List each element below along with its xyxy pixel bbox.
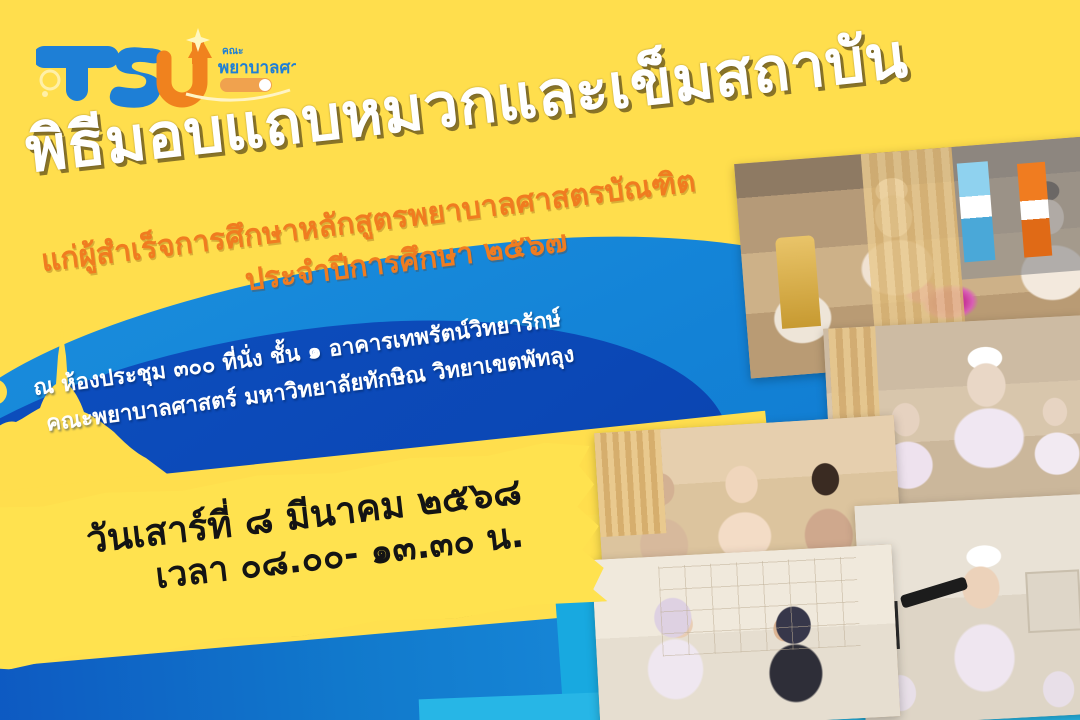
- poster-canvas: คณะ พยาบาลศาสตร์ พิธีมอบแถบหมวกและเข็มสถ…: [0, 0, 1080, 720]
- svg-text:พยาบาลศาสตร์: พยาบาลศาสตร์: [218, 57, 296, 78]
- photo-hijab-nurses: [592, 544, 901, 720]
- svg-text:คณะ: คณะ: [222, 46, 243, 57]
